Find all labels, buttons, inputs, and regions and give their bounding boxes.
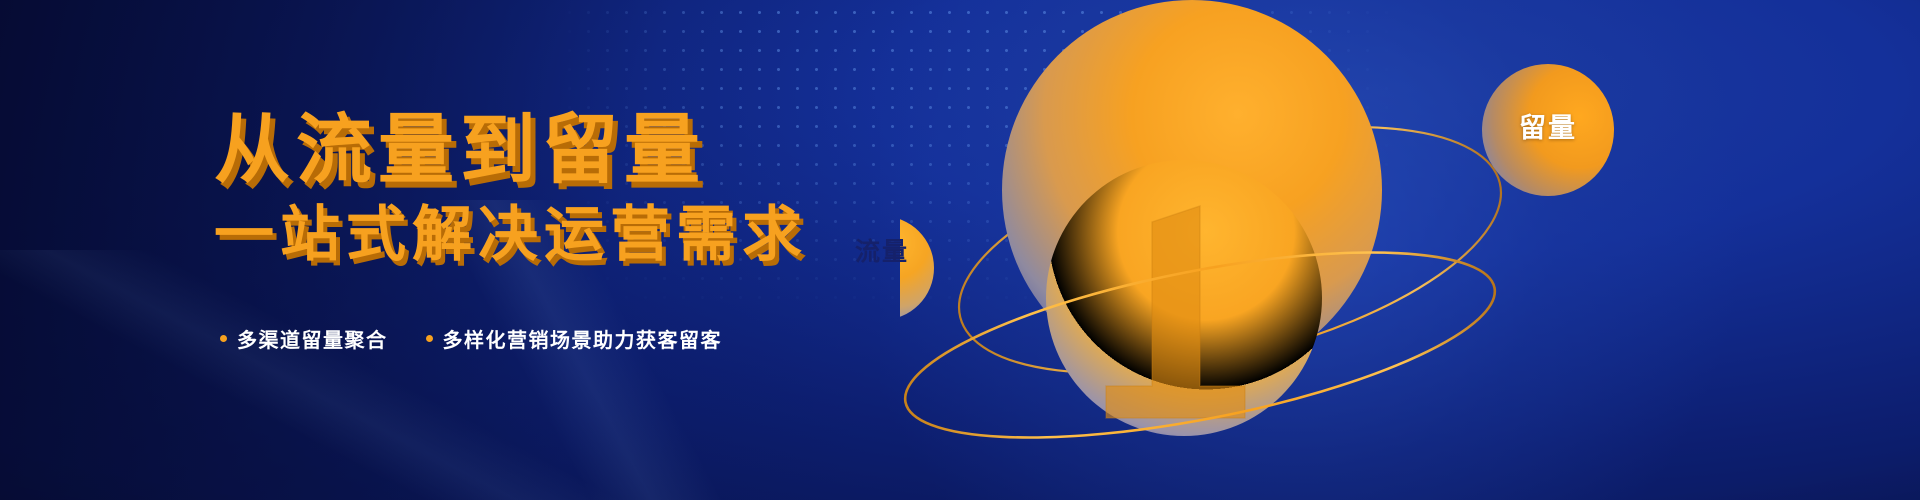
sphere-illustration: 流量 留量 (900, 0, 1920, 500)
bullet-dot-icon (220, 335, 227, 342)
sphere-right-label: 留量 (1496, 106, 1600, 145)
list-item: 多渠道留量聚合 (220, 324, 388, 353)
bullet-label: 多样化营销场景助力获客留客 (443, 324, 723, 353)
headline-primary: 从流量到留量 (214, 108, 914, 194)
promo-banner: 流量 留量 从流量到留量 一站式解决运营需求 多渠道留量聚合 多样化营销场景助力… (0, 0, 1920, 500)
bullet-label: 多渠道留量聚合 (237, 324, 388, 353)
headline-secondary: 一站式解决运营需求 (214, 198, 914, 272)
headline-block: 从流量到留量 一站式解决运营需求 多渠道留量聚合 多样化营销场景助力获客留客 (214, 108, 914, 353)
feature-bullet-list: 多渠道留量聚合 多样化营销场景助力获客留客 (220, 324, 914, 353)
bullet-dot-icon (426, 335, 433, 342)
list-item: 多样化营销场景助力获客留客 (426, 324, 723, 353)
